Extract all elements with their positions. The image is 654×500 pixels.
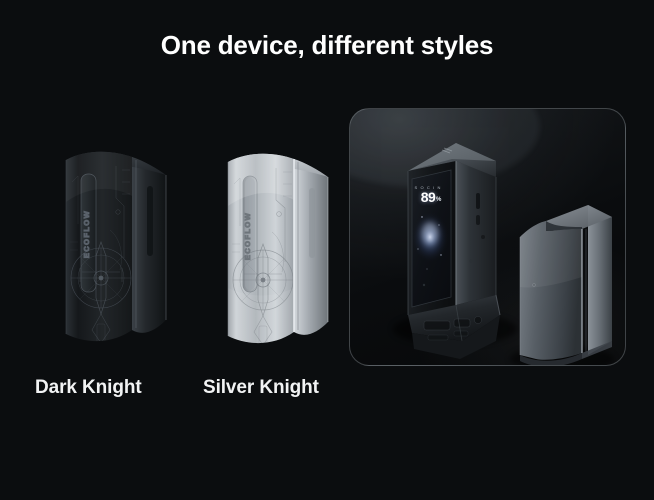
svg-text:ECOFLOW: ECOFLOW [82, 210, 91, 258]
showcase-decorative-shell [510, 205, 614, 366]
showcase-card[interactable] [349, 108, 626, 366]
page-title: One device, different styles [0, 28, 654, 62]
promo-banner: One device, different styles [0, 0, 654, 500]
device-silver-knight[interactable]: ECOFLOW [206, 138, 346, 353]
device-dark-knight[interactable]: ECOFLOW [44, 138, 184, 353]
showcase-power-station [393, 143, 517, 359]
swatch-label-silver-knight: Silver Knight [203, 377, 319, 399]
swatch-label-dark-knight: Dark Knight [35, 377, 142, 399]
